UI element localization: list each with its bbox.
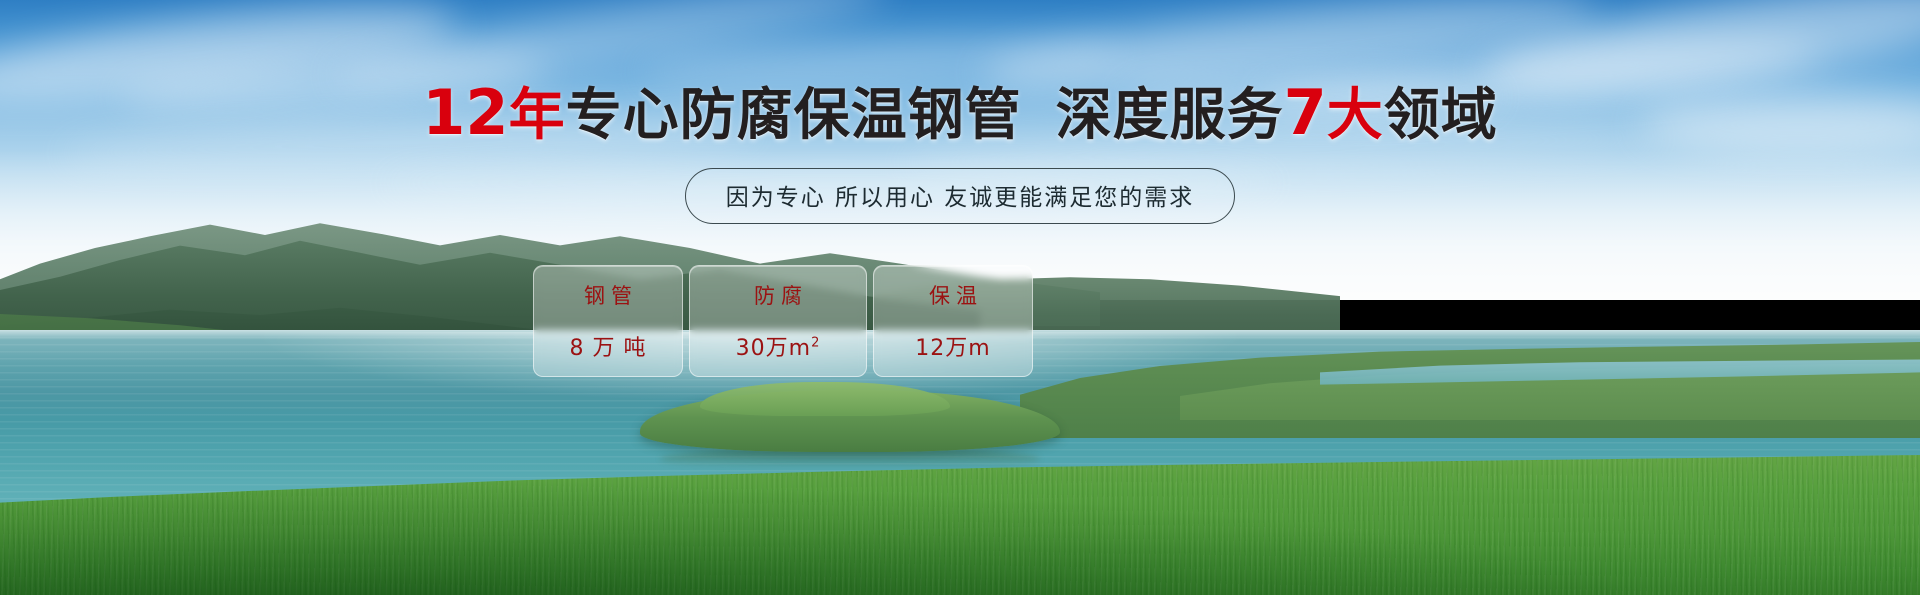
hero-banner: 12年专心防腐保温钢管深度服务7大领域 因为专心 所以用心 友诚更能满足您的需求… [0, 0, 1920, 595]
headline-fields-text: 领域 [1384, 83, 1498, 148]
stat-card-label: 保温 [923, 280, 983, 310]
stat-card-label: 防腐 [748, 280, 808, 310]
stat-card-steel-pipe[interactable]: 钢管 8 万 吨 [533, 265, 683, 377]
headline-main-text: 专心防腐保温钢管 [566, 83, 1022, 148]
banner-headline: 12年专心防腐保温钢管深度服务7大领域 [0, 83, 1920, 146]
headline-fields-unit: 大 [1327, 83, 1384, 148]
headline-years-unit: 年 [509, 83, 566, 148]
stat-card-anticorrosion[interactable]: 防腐 30万m2 [689, 265, 867, 377]
headline-fields-number: 7 [1284, 76, 1327, 149]
headline-service-text: 深度服务 [1056, 83, 1284, 148]
stat-card-value-text: 30万m [736, 336, 811, 361]
stat-card-label: 钢管 [578, 280, 638, 310]
stat-card-group: 钢管 8 万 吨 防腐 30万m2 保温 12万m [533, 265, 1033, 377]
stat-card-value: 12万m [915, 330, 990, 362]
banner-subtitle: 因为专心 所以用心 友诚更能满足您的需求 [685, 168, 1236, 224]
headline-years-number: 12 [422, 76, 508, 149]
stat-card-value-superscript: 2 [811, 336, 820, 351]
stat-card-value: 8 万 吨 [570, 330, 647, 362]
stat-card-insulation[interactable]: 保温 12万m [873, 265, 1033, 377]
stat-card-value: 30万m2 [736, 330, 821, 362]
banner-subtitle-container: 因为专心 所以用心 友诚更能满足您的需求 [0, 168, 1920, 224]
